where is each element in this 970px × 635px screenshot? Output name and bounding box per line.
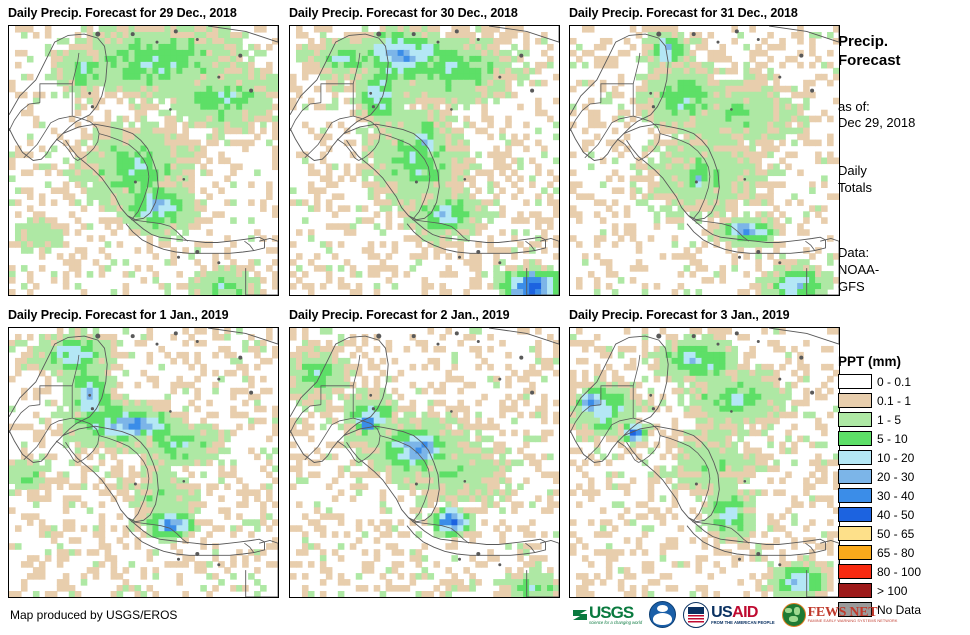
legend-label: 0 - 0.1 [877, 375, 911, 389]
legend-item: > 100 [838, 581, 966, 600]
legend-swatch [838, 564, 872, 579]
fewsnet-wordmark: FEWS NET [808, 606, 898, 619]
legend-swatch [838, 431, 872, 446]
legend-item: 10 - 20 [838, 448, 966, 467]
data-label: Data: [838, 245, 869, 262]
legend-swatch [838, 412, 872, 427]
panel-title-5: Daily Precip. Forecast for 2 Jan., 2019 [289, 308, 510, 322]
product-heading-line1: Precip. [838, 32, 888, 51]
totals-line2: Totals [838, 180, 872, 197]
legend-item: 50 - 65 [838, 524, 966, 543]
legend-swatch [838, 469, 872, 484]
fewsnet-globe-icon [782, 603, 806, 627]
precip-raster [9, 26, 278, 295]
panel-title-3: Daily Precip. Forecast for 31 Dec., 2018 [569, 6, 798, 20]
usaid-tagline: FROM THE AMERICAN PEOPLE [711, 620, 775, 625]
partner-logos: USGS science for a changing world USAID … [572, 601, 898, 628]
usaid-seal-icon [683, 602, 709, 628]
legend-swatch [838, 526, 872, 541]
legend-label: 40 - 50 [877, 508, 914, 522]
panel-title-2: Daily Precip. Forecast for 30 Dec., 2018 [289, 6, 518, 20]
data-source-line1: NOAA- [838, 262, 879, 279]
legend-item: 0 - 0.1 [838, 372, 966, 391]
legend-title: PPT (mm) [838, 354, 966, 369]
legend-item: 5 - 10 [838, 429, 966, 448]
legend-label: 20 - 30 [877, 470, 914, 484]
fewsnet-logo[interactable]: FEWS NET FAMINE EARLY WARNING SYSTEMS NE… [782, 603, 898, 627]
legend-label: 30 - 40 [877, 489, 914, 503]
legend-swatch [838, 583, 872, 598]
usgs-logo[interactable]: USGS science for a changing world [572, 605, 642, 625]
legend-item: 1 - 5 [838, 410, 966, 429]
panel-title-4: Daily Precip. Forecast for 1 Jan., 2019 [8, 308, 229, 322]
usaid-wordmark: USAID [711, 605, 775, 620]
legend-item: 65 - 80 [838, 543, 966, 562]
map-panel-1-jan-2019[interactable] [8, 327, 279, 598]
legend-rows: 0 - 0.10.1 - 11 - 55 - 1010 - 2020 - 303… [838, 372, 966, 619]
precip-raster [9, 328, 278, 597]
legend-item: 40 - 50 [838, 505, 966, 524]
legend-swatch [838, 507, 872, 522]
legend-swatch [838, 374, 872, 389]
legend-label: 65 - 80 [877, 546, 914, 560]
noaa-seal-icon [649, 601, 676, 628]
legend-item: 30 - 40 [838, 486, 966, 505]
totals-line1: Daily [838, 163, 867, 180]
usaid-word-us: US [711, 604, 732, 621]
legend-item: 0.1 - 1 [838, 391, 966, 410]
legend-label: 5 - 10 [877, 432, 908, 446]
panel-title-6: Daily Precip. Forecast for 3 Jan., 2019 [569, 308, 790, 322]
product-heading-line2: Forecast [838, 51, 901, 70]
as-of-label: as of: [838, 99, 870, 116]
usgs-tagline: science for a changing world [589, 620, 642, 625]
legend-swatch [838, 545, 872, 560]
fewsnet-tagline: FAMINE EARLY WARNING SYSTEMS NETWORK [808, 619, 898, 624]
precip-raster [290, 26, 559, 295]
legend-item: 20 - 30 [838, 467, 966, 486]
legend-label: 10 - 20 [877, 451, 914, 465]
usaid-word-aid: AID [732, 604, 758, 621]
precip-raster [570, 328, 839, 597]
legend-swatch [838, 450, 872, 465]
map-panel-30-dec-2018[interactable] [289, 25, 560, 296]
legend-label: 80 - 100 [877, 565, 921, 579]
data-source-line2: GFS [838, 279, 865, 296]
legend-item: 80 - 100 [838, 562, 966, 581]
precip-raster [290, 328, 559, 597]
legend-label: 0.1 - 1 [877, 394, 911, 408]
precip-raster [570, 26, 839, 295]
noaa-logo[interactable] [649, 601, 676, 628]
usgs-wordmark: USGS [589, 605, 642, 620]
map-panel-2-jan-2019[interactable] [289, 327, 560, 598]
legend: PPT (mm) 0 - 0.10.1 - 11 - 55 - 1010 - 2… [838, 354, 966, 619]
legend-label: 50 - 65 [877, 527, 914, 541]
usgs-mark-icon [572, 607, 588, 623]
map-panel-3-jan-2019[interactable] [569, 327, 840, 598]
panel-title-1: Daily Precip. Forecast for 29 Dec., 2018 [8, 6, 237, 20]
legend-swatch [838, 488, 872, 503]
map-panel-29-dec-2018[interactable] [8, 25, 279, 296]
map-credit: Map produced by USGS/EROS [10, 608, 177, 622]
as-of-date: Dec 29, 2018 [838, 115, 915, 132]
usaid-logo[interactable]: USAID FROM THE AMERICAN PEOPLE [683, 602, 775, 628]
map-panel-31-dec-2018[interactable] [569, 25, 840, 296]
legend-label: > 100 [877, 584, 907, 598]
legend-label: 1 - 5 [877, 413, 901, 427]
legend-swatch [838, 393, 872, 408]
